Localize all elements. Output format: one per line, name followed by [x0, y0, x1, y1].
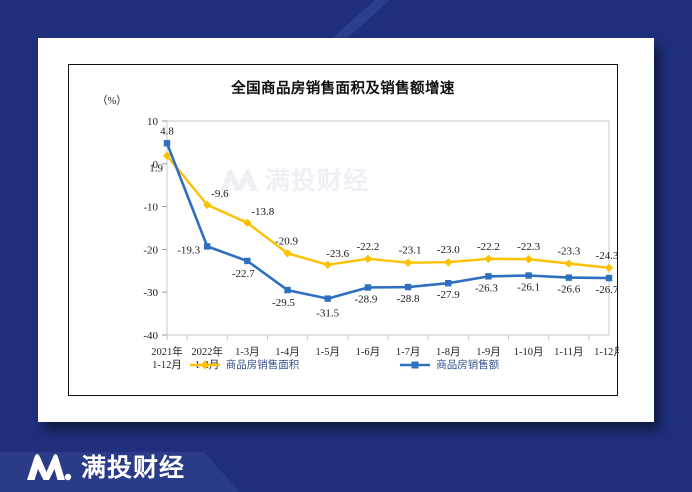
svg-text:-27.9: -27.9 — [437, 289, 460, 301]
svg-text:-23.0: -23.0 — [437, 244, 460, 256]
chart-frame: 全国商品房销售面积及销售额增速 （%） 满投财经 100-10-20-30-40… — [68, 64, 618, 396]
legend-swatch-area-icon — [189, 359, 221, 371]
svg-text:-23.3: -23.3 — [557, 246, 580, 258]
svg-text:-9.6: -9.6 — [211, 188, 229, 200]
svg-text:-23.6: -23.6 — [326, 248, 349, 260]
svg-text:-19.3: -19.3 — [177, 244, 200, 256]
double-peak-m-logo-icon — [26, 450, 72, 482]
svg-text:-26.6: -26.6 — [557, 284, 580, 296]
legend-item-area[interactable]: 商品房销售面积 — [189, 357, 300, 372]
data-labels-layer: 1.9-9.6-13.8-20.9-23.6-22.2-23.1-23.0-22… — [149, 125, 619, 319]
svg-text:-22.3: -22.3 — [517, 241, 540, 253]
chart-legend: 商品房销售面积 商品房销售额 — [69, 357, 619, 372]
svg-text:-20: -20 — [143, 244, 158, 256]
svg-text:-22.2: -22.2 — [356, 241, 379, 253]
svg-text:-29.5: -29.5 — [272, 297, 295, 309]
svg-text:-30: -30 — [143, 287, 158, 299]
svg-text:-26.7: -26.7 — [596, 284, 619, 296]
legend-swatch-amount-icon — [399, 359, 431, 371]
slide-card: 全国商品房销售面积及销售额增速 （%） 满投财经 100-10-20-30-40… — [38, 38, 654, 422]
legend-label-amount: 商品房销售额 — [436, 357, 499, 372]
svg-text:-28.8: -28.8 — [397, 293, 420, 305]
svg-text:-26.1: -26.1 — [517, 282, 540, 294]
plot-area: 100-10-20-30-402021年1-12月2022年1-2月1-3月1-… — [69, 65, 619, 397]
svg-text:-40: -40 — [143, 330, 158, 342]
brand-name: 满投财经 — [81, 448, 185, 484]
svg-text:-23.1: -23.1 — [399, 245, 422, 257]
svg-text:-20.9: -20.9 — [275, 235, 298, 247]
legend-item-amount[interactable]: 商品房销售额 — [399, 357, 499, 372]
axes-layer: 100-10-20-30-402021年1-12月2022年1-2月1-3月1-… — [143, 116, 619, 371]
svg-text:-22.7: -22.7 — [232, 268, 255, 280]
svg-text:-24.3: -24.3 — [596, 250, 619, 262]
svg-text:-22.2: -22.2 — [477, 241, 500, 253]
svg-text:4.8: 4.8 — [160, 125, 174, 137]
svg-text:-28.9: -28.9 — [354, 293, 377, 305]
svg-text:10: 10 — [147, 116, 159, 128]
svg-text:-26.3: -26.3 — [475, 282, 498, 294]
svg-text:-31.5: -31.5 — [316, 308, 339, 320]
series-layer — [163, 140, 613, 302]
legend-label-area: 商品房销售面积 — [226, 357, 300, 372]
top-diagonal-accent — [330, 0, 390, 40]
svg-text:1.9: 1.9 — [149, 163, 163, 175]
svg-text:-13.8: -13.8 — [251, 206, 274, 218]
line-chart-svg: 100-10-20-30-402021年1-12月2022年1-2月1-3月1-… — [69, 65, 619, 397]
svg-text:-10: -10 — [143, 202, 158, 214]
brand-logo: 满投财经 — [26, 448, 185, 484]
